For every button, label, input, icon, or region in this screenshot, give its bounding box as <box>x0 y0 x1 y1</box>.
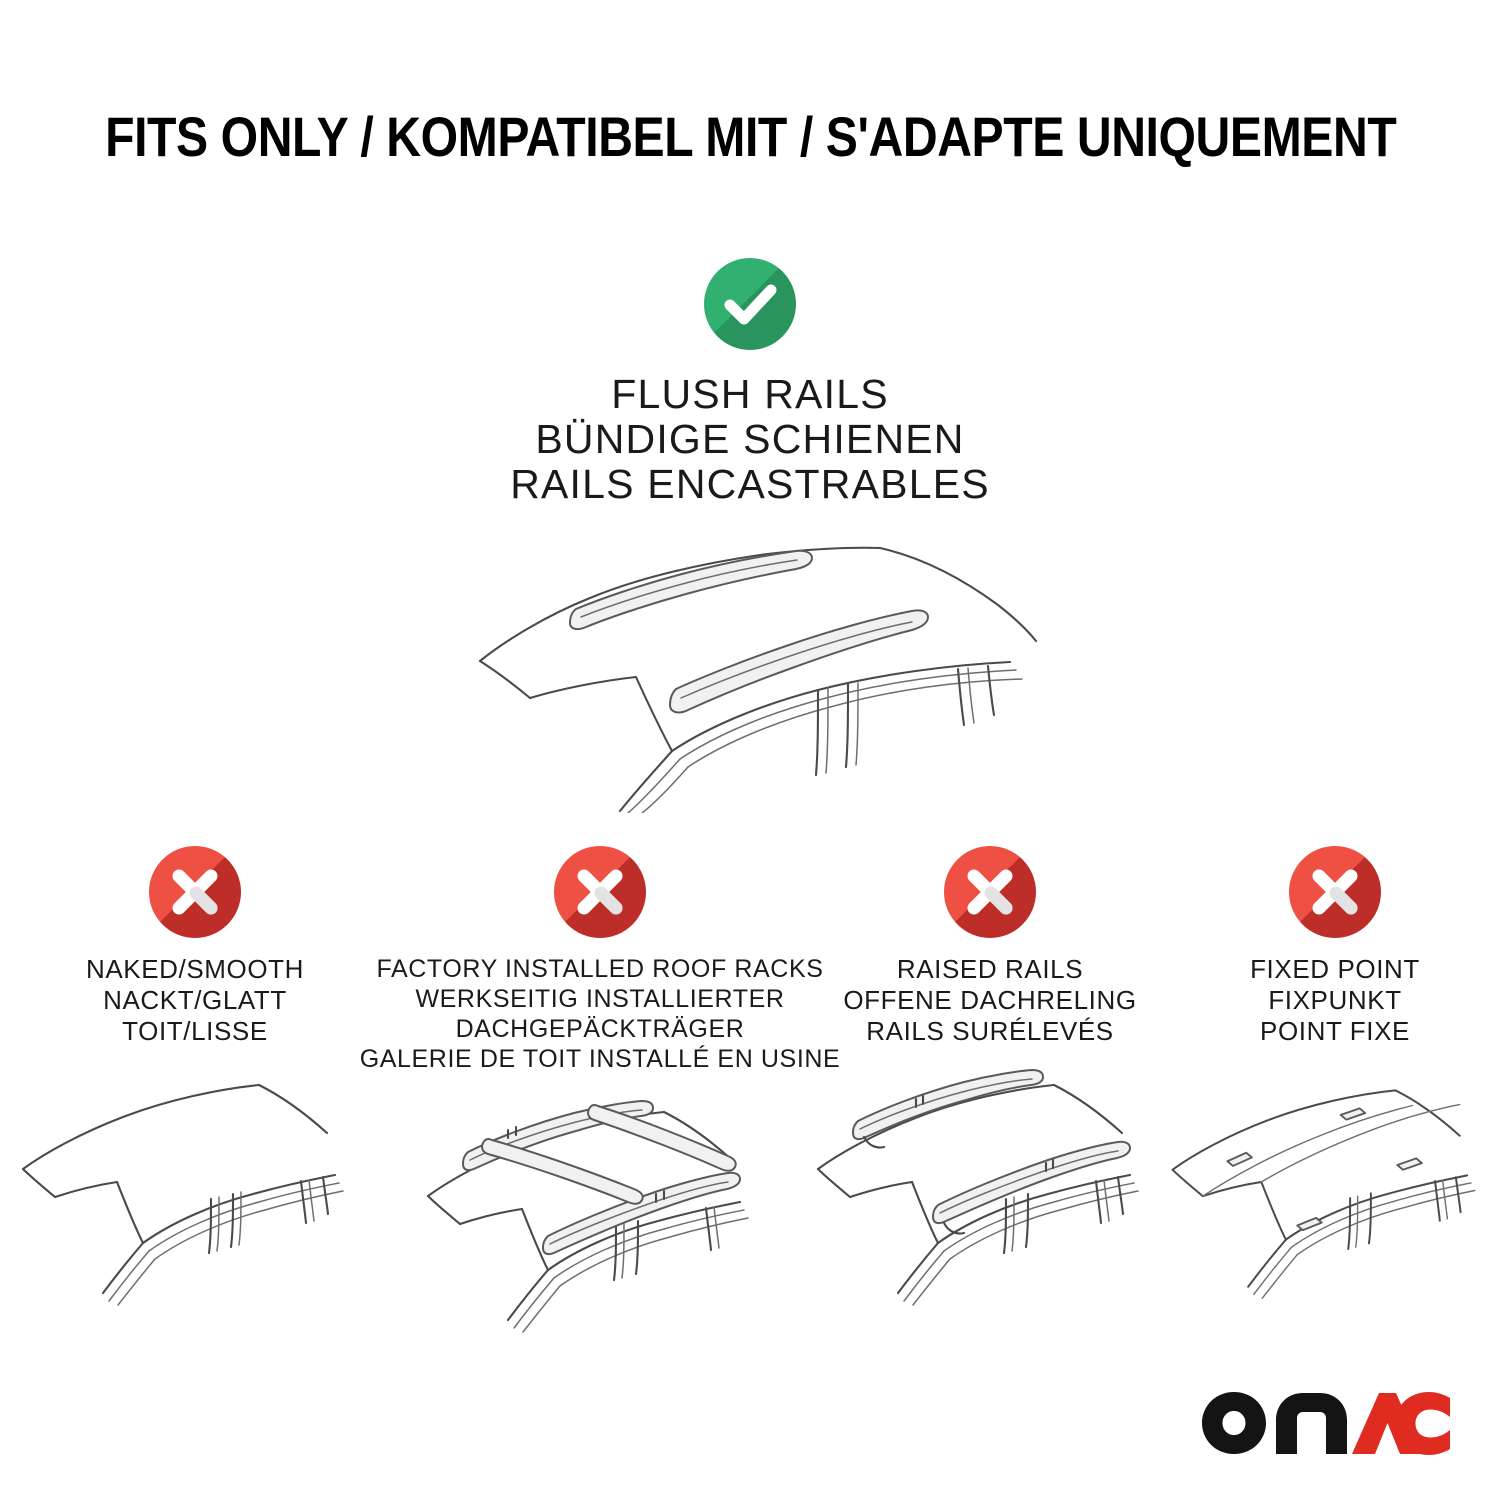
crossbar-rear <box>588 1105 736 1171</box>
label-line-de-2: DACHGEPÄCKTRÄGER <box>360 1014 841 1044</box>
incompatible-label-raised-rails: RAISED RAILS OFFENE DACHRELING RAILS SUR… <box>843 954 1136 1047</box>
label-line-de: OFFENE DACHRELING <box>843 985 1136 1016</box>
incompatible-column-fixed-point: FIXED POINT FIXPUNKT POINT FIXE <box>1170 846 1500 1307</box>
label-line-fr: TOIT/LISSE <box>86 1016 304 1047</box>
label-line-de: NACKT/GLATT <box>86 985 304 1016</box>
incompatible-label-naked-smooth: NAKED/SMOOTH NACKT/GLATT TOIT/LISSE <box>86 954 304 1047</box>
x-mark-glyph <box>944 846 1036 938</box>
incompatible-column-naked-smooth: NAKED/SMOOTH NACKT/GLATT TOIT/LISSE <box>0 846 390 1307</box>
label-line-fr: RAILS SURÉLEVÉS <box>843 1016 1136 1047</box>
page-title: FITS ONLY / KOMPATIBEL MIT / S'ADAPTE UN… <box>105 106 1396 168</box>
incompatible-column-raised-rails: RAISED RAILS OFFENE DACHRELING RAILS SUR… <box>810 846 1170 1307</box>
title-bar: FITS ONLY / KOMPATIBEL MIT / S'ADAPTE UN… <box>0 106 1500 168</box>
car-roof-bare-illustration <box>15 1057 375 1307</box>
label-line-fr: GALERIE DE TOIT INSTALLÉ EN USINE <box>360 1044 841 1074</box>
compatible-line-fr: RAILS ENCASTRABLES <box>510 462 990 507</box>
x-mark-glyph <box>554 846 646 938</box>
flush-rail-right <box>670 610 928 712</box>
fixed-point-covers <box>1227 1108 1422 1230</box>
check-circle-icon <box>704 258 796 350</box>
incompatible-section: NAKED/SMOOTH NACKT/GLATT TOIT/LISSE <box>0 846 1500 1334</box>
incompatible-label-factory-roof-racks: FACTORY INSTALLED ROOF RACKS WERKSEITIG … <box>360 954 841 1074</box>
x-circle-icon <box>944 846 1036 938</box>
label-line-en: NAKED/SMOOTH <box>86 954 304 985</box>
label-line-en: FIXED POINT <box>1250 954 1420 985</box>
label-line-en: FACTORY INSTALLED ROOF RACKS <box>360 954 841 984</box>
raised-rail-far <box>853 1070 1043 1148</box>
incompatible-label-fixed-point: FIXED POINT FIXPUNKT POINT FIXE <box>1250 954 1420 1047</box>
x-mark-glyph <box>1289 846 1381 938</box>
car-roof-with-raised-rails-illustration <box>810 1057 1170 1307</box>
compatible-line-de: BÜNDIGE SCHIENEN <box>510 417 990 462</box>
logo-om-dark <box>1202 1392 1347 1454</box>
flush-rail-left <box>570 551 812 629</box>
compatible-section: FLUSH RAILS BÜNDIGE SCHIENEN RAILS ENCAS… <box>0 258 1500 813</box>
logo-ac-red <box>1352 1392 1450 1455</box>
car-roof-with-fixed-points-illustration <box>1165 1057 1500 1307</box>
omac-logo <box>1200 1390 1452 1456</box>
label-line-de: FIXPUNKT <box>1250 985 1420 1016</box>
infographic-page: FITS ONLY / KOMPATIBEL MIT / S'ADAPTE UN… <box>0 0 1500 1500</box>
crossbar-front <box>482 1139 643 1204</box>
label-line-de-1: WERKSEITIG INSTALLIERTER <box>360 984 841 1014</box>
car-roof-with-factory-crossbars-illustration <box>420 1084 780 1334</box>
x-circle-icon <box>1289 846 1381 938</box>
x-mark-glyph <box>149 846 241 938</box>
compatible-line-en: FLUSH RAILS <box>510 372 990 417</box>
label-line-en: RAISED RAILS <box>843 954 1136 985</box>
incompatible-column-factory-roof-racks: FACTORY INSTALLED ROOF RACKS WERKSEITIG … <box>390 846 810 1334</box>
x-circle-icon <box>149 846 241 938</box>
compatible-heading: FLUSH RAILS BÜNDIGE SCHIENEN RAILS ENCAS… <box>510 372 990 507</box>
check-mark-glyph <box>704 258 796 350</box>
x-circle-icon <box>554 846 646 938</box>
label-line-fr: POINT FIXE <box>1250 1016 1420 1047</box>
car-roof-with-flush-rails-illustration <box>450 513 1050 813</box>
